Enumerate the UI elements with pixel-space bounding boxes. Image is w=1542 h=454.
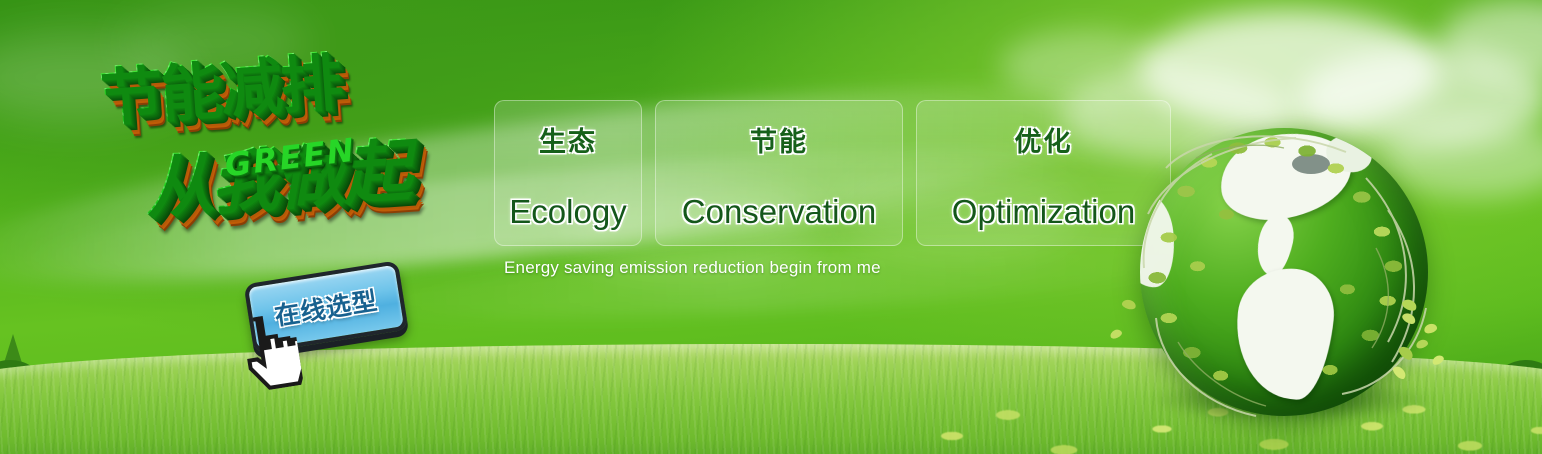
feature-card-conservation[interactable]: 节能 Conservation bbox=[655, 100, 903, 246]
continent-west-edge bbox=[1140, 189, 1179, 291]
feature-cards: 生态 Ecology 节能 Conservation 优化 Optimizati… bbox=[494, 100, 1171, 246]
falling-leaf bbox=[1391, 364, 1408, 381]
online-selection-cta[interactable]: 在线选型 bbox=[243, 260, 408, 354]
falling-leaf bbox=[1415, 338, 1429, 350]
feature-card-en-label: Conservation bbox=[682, 193, 876, 231]
feature-card-en-label: Optimization bbox=[952, 193, 1135, 231]
feature-card-cn-label: 优化 bbox=[1015, 120, 1073, 159]
feature-card-cn-label: 生态 bbox=[539, 120, 597, 159]
hand-pointer-icon bbox=[231, 309, 305, 399]
headline-line-1: 节能减排 bbox=[96, 20, 501, 138]
cloud-shape bbox=[1140, 10, 1440, 130]
globe-sphere bbox=[1140, 128, 1428, 416]
feature-card-ecology[interactable]: 生态 Ecology bbox=[494, 100, 642, 246]
continent-lake-spot bbox=[1292, 154, 1330, 174]
green-earth-globe-icon bbox=[1140, 128, 1440, 428]
feature-card-optimization[interactable]: 优化 Optimization bbox=[916, 100, 1171, 246]
continent-south-america bbox=[1229, 263, 1338, 402]
cloud-shape bbox=[1000, 30, 1170, 102]
falling-leaf bbox=[1109, 328, 1123, 340]
eco-promo-banner: 节能减排 从我做起 GREEN 在线选型 生态 Ecology 节能 Conse… bbox=[0, 0, 1542, 454]
feature-card-en-label: Ecology bbox=[509, 193, 626, 231]
feature-card-cn-label: 节能 bbox=[750, 120, 808, 159]
banner-tagline: Energy saving emission reduction begin f… bbox=[504, 258, 881, 278]
headline-3d: 节能减排 从我做起 GREEN bbox=[88, 20, 503, 277]
cloud-shape bbox=[1440, 0, 1542, 80]
falling-leaf bbox=[1121, 298, 1137, 310]
